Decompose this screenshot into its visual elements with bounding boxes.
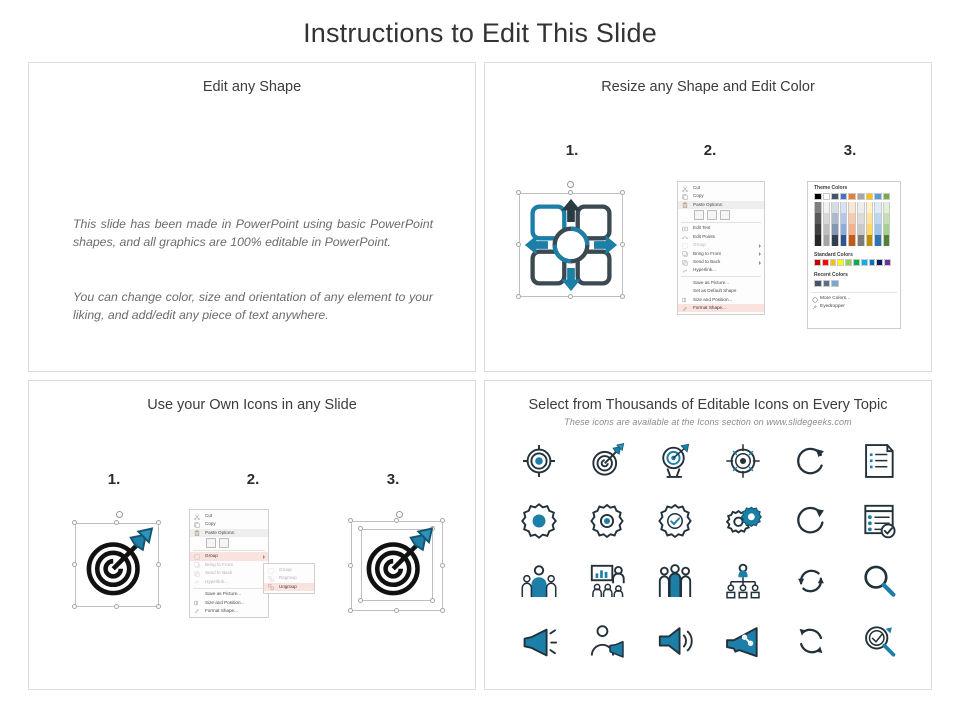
selection-handle[interactable] bbox=[440, 608, 445, 613]
more-colors-button[interactable]: More Colors... bbox=[808, 294, 900, 302]
hyperlink-icon bbox=[682, 268, 688, 274]
refresh-clockwise-icon bbox=[792, 442, 830, 480]
icon-cell[interactable] bbox=[573, 431, 641, 491]
color-swatch[interactable] bbox=[831, 193, 839, 200]
context-menu-label: Save as Picture... bbox=[205, 591, 241, 596]
paste-options-row[interactable] bbox=[678, 209, 764, 220]
submenu-label: Regroup bbox=[279, 575, 297, 580]
context-menu-label: Group bbox=[205, 553, 218, 558]
color-swatch[interactable] bbox=[814, 213, 822, 224]
menu-divider bbox=[193, 588, 265, 589]
org-chart-people-icon bbox=[724, 562, 762, 600]
team-leader-icon bbox=[520, 562, 558, 600]
theme-variant-row[interactable] bbox=[808, 213, 900, 224]
context-menu-label: Cut bbox=[693, 185, 700, 190]
size-position-icon bbox=[682, 297, 688, 303]
color-swatch[interactable] bbox=[883, 193, 891, 200]
context-menu-item-size-and-position[interactable]: Size and Position... bbox=[190, 599, 268, 607]
context-menu-item-save-as-picture[interactable]: Save as Picture... bbox=[190, 590, 268, 598]
color-swatch[interactable] bbox=[874, 213, 882, 224]
speaker-sound-icon bbox=[656, 622, 694, 660]
rotate-handle[interactable] bbox=[116, 511, 123, 518]
crosshair-scope-icon bbox=[724, 442, 762, 480]
context-menu-label: Hyperlink... bbox=[205, 579, 228, 584]
color-swatch[interactable] bbox=[883, 235, 891, 246]
context-menu-item-send-to-back[interactable]: Send to Back bbox=[190, 569, 268, 577]
person-megaphone-icon bbox=[588, 622, 626, 660]
theme-variant-row[interactable] bbox=[808, 224, 900, 235]
selection-handle[interactable] bbox=[72, 520, 77, 525]
edit-text-icon bbox=[682, 226, 688, 232]
selection-handle[interactable] bbox=[568, 190, 573, 195]
paste-picture-icon[interactable] bbox=[219, 538, 229, 548]
selection-handle[interactable] bbox=[348, 518, 353, 523]
selection-handle[interactable] bbox=[72, 604, 77, 609]
color-swatch[interactable] bbox=[823, 213, 831, 224]
color-swatch[interactable] bbox=[874, 193, 882, 200]
presentation-audience-icon bbox=[588, 562, 626, 600]
color-swatch[interactable] bbox=[848, 193, 856, 200]
panel-title-resize-shape: Resize any Shape and Edit Color bbox=[485, 79, 931, 95]
color-swatch[interactable] bbox=[866, 193, 874, 200]
selection-handle[interactable] bbox=[568, 294, 573, 299]
task-list-check-icon bbox=[860, 502, 898, 540]
context-menu-label: Cut bbox=[205, 513, 212, 518]
color-swatch[interactable] bbox=[883, 213, 891, 224]
target-crosshair-filled-icon bbox=[520, 442, 558, 480]
icon-cell[interactable] bbox=[641, 431, 709, 491]
edit-shape-paragraph-2: You can change color, size and orientati… bbox=[73, 288, 433, 325]
page-title: Instructions to Edit This Slide bbox=[0, 18, 960, 49]
color-swatch[interactable] bbox=[814, 259, 821, 266]
size-position-icon bbox=[194, 600, 200, 606]
icon-cell[interactable] bbox=[505, 431, 573, 491]
color-swatch[interactable] bbox=[848, 202, 856, 213]
icons-step-2-number: 2. bbox=[233, 471, 273, 488]
color-swatch[interactable] bbox=[848, 235, 856, 246]
color-swatch[interactable] bbox=[837, 259, 844, 266]
context-menu-item-edit-points[interactable]: Edit Points bbox=[678, 233, 764, 241]
context-menu-label: Group bbox=[693, 242, 706, 247]
color-swatch[interactable] bbox=[866, 213, 874, 224]
icon-cell[interactable] bbox=[709, 491, 777, 551]
color-swatch[interactable] bbox=[823, 235, 831, 246]
color-swatch[interactable] bbox=[883, 224, 891, 235]
selection-handle[interactable] bbox=[620, 294, 625, 299]
gear-filled-icon bbox=[520, 502, 558, 540]
selected-shape-graphic[interactable] bbox=[511, 181, 631, 301]
selection-handle[interactable] bbox=[348, 563, 353, 568]
context-menu-label: Copy bbox=[693, 193, 704, 198]
color-swatch[interactable] bbox=[857, 193, 865, 200]
selection-handle[interactable] bbox=[114, 520, 119, 525]
submenu-item-regroup[interactable]: Regroup bbox=[264, 574, 314, 582]
group-context-menu[interactable]: Cut Copy Paste Options: Group bbox=[189, 509, 269, 618]
context-menu-item-cut[interactable]: Cut bbox=[678, 184, 764, 192]
gear-outline-icon bbox=[588, 502, 626, 540]
resize-step-3-number: 3. bbox=[830, 142, 870, 159]
icon-cell[interactable] bbox=[641, 491, 709, 551]
color-swatch[interactable] bbox=[866, 224, 874, 235]
standard-colors-row[interactable] bbox=[808, 259, 900, 266]
color-swatch[interactable] bbox=[814, 202, 822, 213]
color-swatch[interactable] bbox=[857, 213, 865, 224]
color-swatch[interactable] bbox=[823, 224, 831, 235]
paste-icon bbox=[194, 530, 200, 536]
format-shape-icon bbox=[194, 608, 200, 614]
circular-arrow-icon bbox=[792, 502, 830, 540]
target-dart-icon bbox=[359, 527, 435, 603]
icon-cell[interactable] bbox=[505, 491, 573, 551]
icon-cell[interactable] bbox=[709, 611, 777, 671]
shape-context-menu[interactable]: Cut Copy Paste Options: Edit Text bbox=[677, 181, 765, 315]
color-swatch[interactable] bbox=[831, 202, 839, 213]
context-menu-item-format-shape[interactable]: Format Shape... bbox=[190, 607, 268, 615]
color-swatch[interactable] bbox=[814, 280, 822, 287]
color-swatch[interactable] bbox=[857, 235, 865, 246]
color-swatch[interactable] bbox=[874, 202, 882, 213]
context-menu-label: Bring to Front bbox=[693, 251, 721, 256]
bring-front-icon bbox=[682, 251, 688, 257]
selection-handle[interactable] bbox=[394, 518, 399, 523]
selection-handle[interactable] bbox=[516, 190, 521, 195]
icon-cell[interactable] bbox=[641, 611, 709, 671]
color-swatch[interactable] bbox=[823, 280, 831, 287]
context-menu-item-group[interactable]: Group bbox=[190, 552, 268, 560]
resize-step-2-number: 2. bbox=[690, 142, 730, 159]
submenu-arrow-icon bbox=[759, 252, 761, 256]
icon-cell[interactable] bbox=[845, 491, 913, 551]
ungroup-icon bbox=[268, 584, 274, 590]
panel-subtitle-icon-library: These icons are available at the Icons s… bbox=[485, 417, 931, 427]
selection-handle[interactable] bbox=[114, 604, 119, 609]
color-swatch[interactable] bbox=[874, 235, 882, 246]
selection-handle[interactable] bbox=[394, 608, 399, 613]
context-menu-label: Hyperlink... bbox=[693, 267, 716, 272]
context-menu-item-bring-to-front[interactable]: Bring to Front bbox=[190, 561, 268, 569]
color-swatch[interactable] bbox=[840, 235, 848, 246]
menu-divider bbox=[681, 276, 761, 277]
context-menu-item-send-to-back[interactable]: Send to Back bbox=[678, 258, 764, 266]
submenu-item-group[interactable]: Group bbox=[264, 566, 314, 574]
color-swatch[interactable] bbox=[831, 235, 839, 246]
paste-text-only-icon[interactable] bbox=[720, 210, 730, 220]
color-swatch[interactable] bbox=[869, 259, 876, 266]
context-menu-item-hyperlink[interactable]: Hyperlink... bbox=[190, 578, 268, 586]
icon-cell[interactable] bbox=[505, 611, 573, 671]
standard-colors-label: Standard Colors bbox=[808, 246, 900, 260]
slide-canvas: Instructions to Edit This Slide Edit any… bbox=[0, 0, 960, 720]
paste-keep-formatting-icon[interactable] bbox=[206, 538, 216, 548]
color-swatch[interactable] bbox=[866, 202, 874, 213]
group-people-icon bbox=[656, 562, 694, 600]
context-menu-item-group[interactable]: Group bbox=[678, 241, 764, 249]
selection-handle[interactable] bbox=[620, 242, 625, 247]
color-swatch[interactable] bbox=[848, 224, 856, 235]
panel-title-edit-shape: Edit any Shape bbox=[29, 79, 475, 95]
context-menu-label: Paste Options: bbox=[205, 530, 235, 535]
rotate-handle[interactable] bbox=[567, 181, 574, 188]
target-icon-grouped[interactable] bbox=[65, 509, 175, 619]
context-menu-item-cut[interactable]: Cut bbox=[190, 512, 268, 520]
context-menu-item-paste-options[interactable]: Paste Options: bbox=[190, 529, 268, 537]
selection-handle[interactable] bbox=[516, 242, 521, 247]
context-menu-item-format-shape[interactable]: Format Shape... bbox=[678, 304, 764, 312]
icons-step-1-number: 1. bbox=[94, 471, 134, 488]
color-swatch[interactable] bbox=[840, 224, 848, 235]
context-menu-label: Edit Text bbox=[693, 225, 711, 230]
eyedropper-button[interactable]: Eyedropper bbox=[808, 302, 900, 310]
four-quadrant-shape-icon bbox=[523, 197, 619, 293]
context-menu-label: Paste Options: bbox=[693, 202, 723, 207]
color-swatch[interactable] bbox=[866, 235, 874, 246]
paste-picture-icon[interactable] bbox=[707, 210, 717, 220]
color-swatch[interactable] bbox=[814, 193, 822, 200]
recent-colors-row[interactable] bbox=[808, 280, 900, 287]
context-menu-label: Size and Position... bbox=[693, 297, 732, 302]
magnifier-target-icon bbox=[860, 622, 898, 660]
panel-title-icon-library: Select from Thousands of Editable Icons … bbox=[485, 397, 931, 413]
sync-arrows-icon bbox=[792, 562, 830, 600]
hyperlink-icon bbox=[194, 579, 200, 585]
panel-title-own-icons: Use your Own Icons in any Slide bbox=[29, 397, 475, 413]
target-dart-icon bbox=[79, 527, 155, 603]
send-back-icon bbox=[682, 260, 688, 266]
paste-keep-formatting-icon[interactable] bbox=[694, 210, 704, 220]
color-swatch[interactable] bbox=[823, 193, 831, 200]
context-menu-label: Size and Position... bbox=[205, 600, 244, 605]
selection-handle[interactable] bbox=[440, 563, 445, 568]
selection-handle[interactable] bbox=[156, 520, 161, 525]
color-swatch[interactable] bbox=[845, 259, 852, 266]
format-shape-icon bbox=[682, 306, 688, 312]
submenu-item-ungroup[interactable]: Ungroup bbox=[264, 583, 314, 591]
submenu-label: Ungroup bbox=[279, 584, 297, 589]
icon-cell[interactable] bbox=[709, 431, 777, 491]
icons-step-3-number: 3. bbox=[373, 471, 413, 488]
icon-cell[interactable] bbox=[777, 491, 845, 551]
panel-resize-shape-edit-color: Resize any Shape and Edit Color 1. 2. 3. bbox=[484, 62, 932, 372]
magnifier-icon bbox=[860, 562, 898, 600]
context-menu-label: Send to Back bbox=[205, 570, 232, 575]
resize-step-1-number: 1. bbox=[552, 142, 592, 159]
color-swatch[interactable] bbox=[861, 259, 868, 266]
icon-gallery-grid bbox=[505, 431, 913, 671]
selection-handle[interactable] bbox=[156, 562, 161, 567]
context-menu-item-hyperlink[interactable]: Hyperlink... bbox=[678, 266, 764, 274]
copy-icon bbox=[194, 522, 200, 528]
context-menu-item-size-and-position[interactable]: Size and Position... bbox=[678, 296, 764, 304]
group-icon bbox=[682, 243, 688, 249]
eyedropper-icon bbox=[812, 304, 818, 310]
context-menu-item-set-default-shape[interactable]: Set as Default Shape bbox=[678, 287, 764, 295]
color-swatch[interactable] bbox=[831, 224, 839, 235]
color-swatch[interactable] bbox=[831, 213, 839, 224]
icon-cell[interactable] bbox=[777, 551, 845, 611]
gear-check-icon bbox=[656, 502, 694, 540]
icon-cell[interactable] bbox=[709, 551, 777, 611]
selection-handle[interactable] bbox=[348, 608, 353, 613]
context-menu-label: Send to Back bbox=[693, 259, 720, 264]
color-swatch[interactable] bbox=[874, 224, 882, 235]
color-swatch[interactable] bbox=[831, 280, 839, 287]
scissors-icon bbox=[682, 186, 688, 192]
context-menu-label: Save as Picture... bbox=[693, 280, 729, 285]
icon-cell[interactable] bbox=[777, 431, 845, 491]
color-swatch[interactable] bbox=[853, 259, 860, 266]
circular-refresh-icon bbox=[792, 622, 830, 660]
theme-colors-row[interactable] bbox=[808, 193, 900, 200]
color-swatch[interactable] bbox=[840, 193, 848, 200]
selection-handle[interactable] bbox=[156, 604, 161, 609]
menu-divider bbox=[193, 550, 265, 551]
megaphone-discount-icon bbox=[724, 622, 762, 660]
target-dart-icon bbox=[588, 442, 626, 480]
color-swatch[interactable] bbox=[814, 235, 822, 246]
submenu-arrow-icon bbox=[759, 244, 761, 248]
icon-cell[interactable] bbox=[573, 551, 641, 611]
color-swatch[interactable] bbox=[823, 202, 831, 213]
paste-icon bbox=[682, 202, 688, 208]
eyedropper-label: Eyedropper bbox=[820, 304, 845, 309]
icon-cell[interactable] bbox=[641, 551, 709, 611]
checklist-document-icon bbox=[860, 442, 898, 480]
color-swatch[interactable] bbox=[840, 213, 848, 224]
theme-color-picker[interactable]: Theme Colors bbox=[807, 181, 901, 329]
target-icon-ungrouped[interactable] bbox=[345, 509, 455, 619]
context-menu-label: Bring to Front bbox=[205, 562, 233, 567]
context-menu-item-paste-options[interactable]: Paste Options: bbox=[678, 201, 764, 209]
theme-variant-row[interactable] bbox=[808, 202, 900, 213]
scissors-icon bbox=[194, 514, 200, 520]
color-swatch[interactable] bbox=[876, 259, 883, 266]
color-swatch[interactable] bbox=[857, 202, 865, 213]
icon-cell[interactable] bbox=[505, 551, 573, 611]
context-menu-label: Edit Points bbox=[693, 234, 715, 239]
context-menu-item-copy[interactable]: Copy bbox=[678, 192, 764, 200]
icon-cell[interactable] bbox=[777, 611, 845, 671]
menu-divider bbox=[681, 222, 761, 223]
rotate-handle[interactable] bbox=[396, 511, 403, 518]
icon-cell[interactable] bbox=[845, 551, 913, 611]
group-submenu[interactable]: Group Regroup Ungroup bbox=[263, 563, 315, 594]
selection-handle[interactable] bbox=[620, 190, 625, 195]
selection-handle[interactable] bbox=[516, 294, 521, 299]
copy-icon bbox=[682, 194, 688, 200]
submenu-label: Group bbox=[279, 567, 292, 572]
edit-points-icon bbox=[682, 234, 688, 240]
context-menu-label: Copy bbox=[205, 521, 216, 526]
double-gear-icon bbox=[724, 502, 762, 540]
menu-divider bbox=[811, 292, 897, 293]
more-colors-label: More Colors... bbox=[820, 296, 850, 301]
context-menu-item-bring-to-front[interactable]: Bring to Front bbox=[678, 250, 764, 258]
panel-edit-any-shape: Edit any Shape This slide has been made … bbox=[28, 62, 476, 372]
color-swatch[interactable] bbox=[814, 224, 822, 235]
theme-colors-label: Theme Colors bbox=[808, 182, 900, 193]
context-menu-label: Format Shape... bbox=[205, 608, 238, 613]
color-swatch[interactable] bbox=[840, 202, 848, 213]
context-menu-item-save-as-picture[interactable]: Save as Picture... bbox=[678, 279, 764, 287]
icon-cell[interactable] bbox=[845, 431, 913, 491]
color-swatch[interactable] bbox=[884, 259, 891, 266]
paste-options-row[interactable] bbox=[190, 537, 268, 548]
icon-cell[interactable] bbox=[573, 611, 641, 671]
color-swatch[interactable] bbox=[822, 259, 829, 266]
color-swatch[interactable] bbox=[848, 213, 856, 224]
recent-colors-label: Recent Colors bbox=[808, 266, 900, 280]
panel-use-own-icons: Use your Own Icons in any Slide 1. 2. 3. bbox=[28, 380, 476, 690]
theme-variant-row[interactable] bbox=[808, 235, 900, 246]
submenu-arrow-icon bbox=[759, 261, 761, 265]
megaphone-icon bbox=[520, 622, 558, 660]
submenu-arrow-icon bbox=[263, 555, 265, 559]
color-swatch[interactable] bbox=[830, 259, 837, 266]
regroup-icon bbox=[268, 576, 274, 582]
icon-cell[interactable] bbox=[845, 611, 913, 671]
selection-handle[interactable] bbox=[72, 562, 77, 567]
color-swatch[interactable] bbox=[857, 224, 865, 235]
send-back-icon bbox=[194, 571, 200, 577]
edit-shape-paragraph-1: This slide has been made in PowerPoint u… bbox=[73, 215, 433, 252]
context-menu-label: Format Shape... bbox=[693, 305, 726, 310]
context-menu-item-copy[interactable]: Copy bbox=[190, 520, 268, 528]
group-icon bbox=[194, 554, 200, 560]
context-menu-label: Set as Default Shape bbox=[693, 288, 736, 293]
context-menu-item-edit-text[interactable]: Edit Text bbox=[678, 224, 764, 232]
color-swatch[interactable] bbox=[883, 202, 891, 213]
selection-handle[interactable] bbox=[440, 518, 445, 523]
group-icon bbox=[268, 568, 274, 574]
panel-icon-library: Select from Thousands of Editable Icons … bbox=[484, 380, 932, 690]
icon-cell[interactable] bbox=[573, 491, 641, 551]
target-stand-dart-icon bbox=[656, 442, 694, 480]
bring-front-icon bbox=[194, 562, 200, 568]
